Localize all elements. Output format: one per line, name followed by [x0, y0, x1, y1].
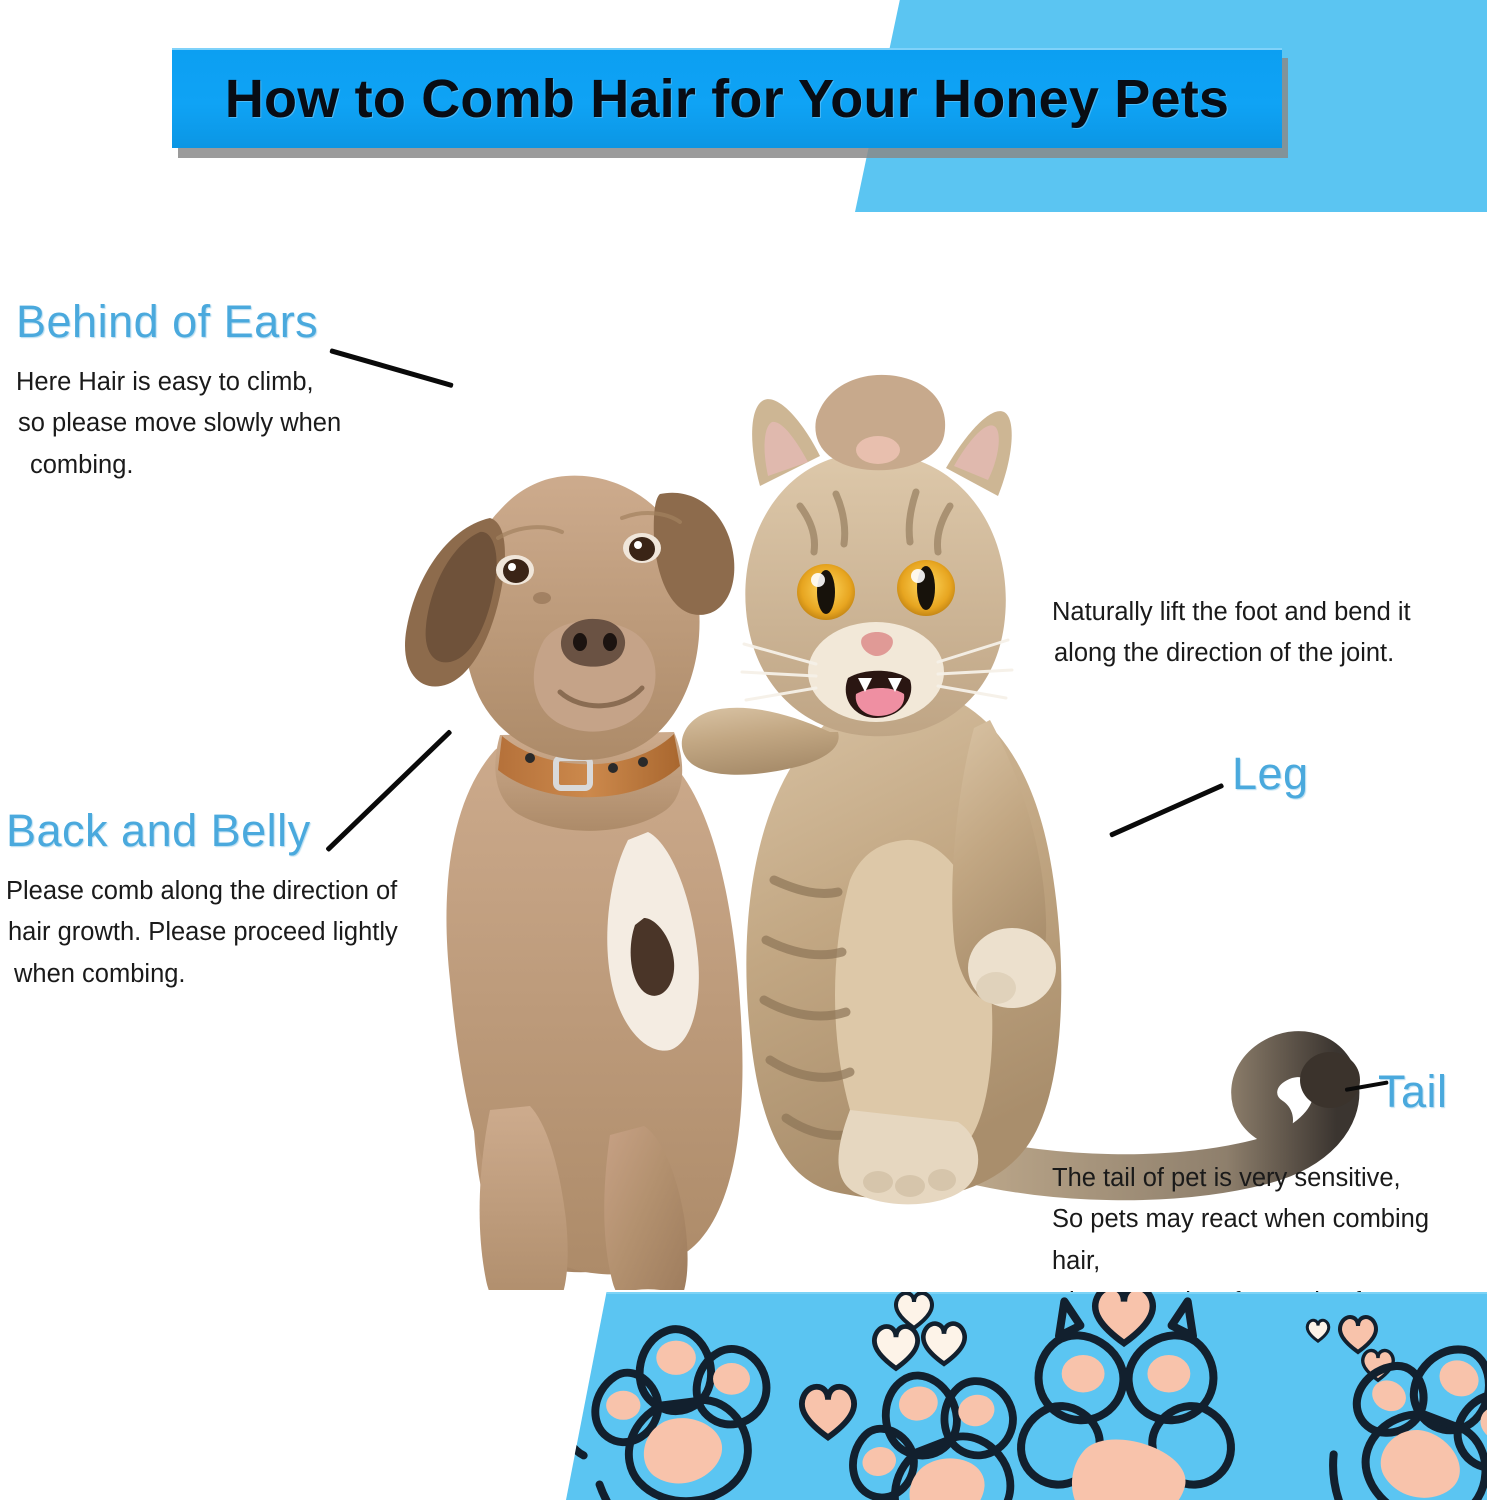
callout-tail-line-1: The tail of pet is very sensitive,: [1052, 1158, 1472, 1199]
callout-heading-tail: Tail: [1378, 1066, 1448, 1118]
title-bar: How to Comb Hair for Your Honey Pets: [172, 48, 1282, 148]
cat-paw-icon: [566, 1329, 766, 1500]
callout-back-line-3: when combing.: [6, 954, 426, 995]
heart-icon: [923, 1324, 964, 1364]
callout-behind-of-ears: Behind of Ears Here Hair is easy to clim…: [16, 296, 416, 486]
callout-back-line-2: hair growth. Please proceed lightly: [6, 912, 426, 953]
callout-ears-line-1: Here Hair is easy to climb,: [16, 362, 416, 403]
callout-body-leg: Naturally lift the foot and bend it alon…: [1052, 592, 1472, 675]
callout-heading-leg: Leg: [1232, 748, 1309, 800]
heart-icon: [1340, 1317, 1376, 1352]
cat-paw-icon: [831, 1355, 1052, 1500]
header: How to Comb Hair for Your Honey Pets: [0, 0, 1487, 230]
callout-leg-label: Leg: [1232, 748, 1309, 800]
callout-leg-line-2: along the direction of the joint.: [1052, 633, 1472, 674]
infographic-poster: How to Comb Hair for Your Honey Pets: [0, 0, 1487, 1500]
callout-tail-line-2: So pets may react when combing hair,: [1052, 1199, 1472, 1282]
callout-body-back: Please comb along the direction of hair …: [6, 871, 426, 995]
callout-leg-line-1: Naturally lift the foot and bend it: [1052, 592, 1472, 633]
heart-icon: [1307, 1320, 1329, 1341]
callout-leg-body: Naturally lift the foot and bend it alon…: [1052, 592, 1472, 675]
dog-illustration: [405, 476, 742, 1290]
callout-heading-back: Back and Belly: [6, 805, 426, 857]
callout-back-line-1: Please comb along the direction of: [6, 871, 426, 912]
pet-photo: [330, 280, 1390, 1290]
callout-back-and-belly: Back and Belly Please comb along the dir…: [6, 805, 426, 995]
bottom-banner: [566, 1292, 1487, 1500]
heart-icon: [802, 1387, 854, 1438]
page-title: How to Comb Hair for Your Honey Pets: [225, 68, 1229, 130]
callout-body-ears: Here Hair is easy to climb, so please mo…: [16, 362, 416, 486]
cat-paw-icon: [1293, 1314, 1487, 1500]
callout-heading-ears: Behind of Ears: [16, 296, 416, 348]
heart-icon: [874, 1326, 917, 1368]
callout-ears-line-3: combing.: [16, 445, 416, 486]
callout-tail-label: Tail: [1378, 1066, 1448, 1118]
heart-icon: [896, 1293, 932, 1328]
callout-ears-line-2: so please move slowly when: [16, 403, 416, 444]
heart-icon: [1095, 1292, 1153, 1343]
